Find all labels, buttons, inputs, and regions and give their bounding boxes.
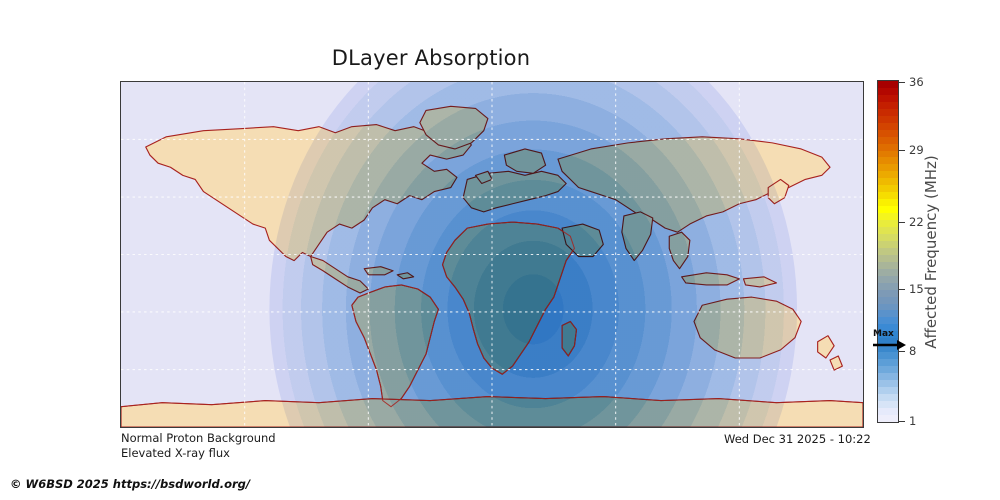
colorbar-band-29 bbox=[878, 283, 898, 290]
colorbar-band-31 bbox=[878, 297, 898, 304]
colorbar-band-33 bbox=[878, 310, 898, 317]
credit-line: © W6BSD 2025 https://bsdworld.org/ bbox=[10, 477, 250, 491]
colorbar-band-5 bbox=[878, 116, 898, 123]
colorbar-band-0 bbox=[878, 81, 898, 88]
colorbar-tick-mark-36 bbox=[899, 82, 905, 83]
colorbar-band-28 bbox=[878, 276, 898, 283]
colorbar-tick-mark-15 bbox=[899, 289, 905, 290]
colorbar-band-21 bbox=[878, 227, 898, 234]
colorbar-band-48 bbox=[878, 415, 898, 422]
colorbar-band-18 bbox=[878, 206, 898, 213]
status-note-proton: Normal Proton Background bbox=[121, 431, 276, 445]
max-marker-label: Max bbox=[873, 329, 894, 339]
colorbar bbox=[877, 80, 899, 423]
map-canvas[interactable] bbox=[120, 81, 864, 428]
colorbar-band-45 bbox=[878, 394, 898, 401]
colorbar-band-11 bbox=[878, 157, 898, 164]
colorbar-band-32 bbox=[878, 304, 898, 311]
colorbar-band-44 bbox=[878, 387, 898, 394]
world-map-svg bbox=[121, 82, 863, 427]
colorbar-tick-mark-1 bbox=[899, 421, 905, 422]
colorbar-band-40 bbox=[878, 359, 898, 366]
colorbar-band-30 bbox=[878, 290, 898, 297]
colorbar-band-1 bbox=[878, 88, 898, 95]
status-note-xray: Elevated X-ray flux bbox=[121, 446, 230, 460]
timestamp: Wed Dec 31 2025 - 10:22 bbox=[724, 432, 871, 446]
colorbar-band-14 bbox=[878, 178, 898, 185]
colorbar-band-24 bbox=[878, 248, 898, 255]
colorbar-band-6 bbox=[878, 123, 898, 130]
colorbar-band-42 bbox=[878, 373, 898, 380]
colorbar-band-4 bbox=[878, 109, 898, 116]
colorbar-band-46 bbox=[878, 401, 898, 408]
colorbar-band-34 bbox=[878, 317, 898, 324]
colorbar-band-16 bbox=[878, 192, 898, 199]
colorbar-band-20 bbox=[878, 220, 898, 227]
colorbar-band-27 bbox=[878, 269, 898, 276]
colorbar-band-26 bbox=[878, 262, 898, 269]
colorbar-axis-label: Affected Frequency (MHz) bbox=[916, 80, 946, 423]
colorbar-band-2 bbox=[878, 95, 898, 102]
colorbar-band-43 bbox=[878, 380, 898, 387]
colorbar-band-10 bbox=[878, 151, 898, 158]
colorbar-band-41 bbox=[878, 366, 898, 373]
colorbar-band-9 bbox=[878, 144, 898, 151]
colorbar-band-7 bbox=[878, 130, 898, 137]
page-title: DLayer Absorption bbox=[0, 46, 862, 70]
colorbar-band-12 bbox=[878, 164, 898, 171]
colorbar-band-22 bbox=[878, 234, 898, 241]
colorbar-band-47 bbox=[878, 408, 898, 415]
colorbar-band-25 bbox=[878, 255, 898, 262]
colorbar-axis-label-text: Affected Frequency (MHz) bbox=[922, 155, 940, 349]
colorbar-band-19 bbox=[878, 213, 898, 220]
colorbar-band-3 bbox=[878, 102, 898, 109]
max-marker: Max bbox=[872, 330, 906, 354]
colorbar-band-8 bbox=[878, 137, 898, 144]
colorbar-tick-mark-29 bbox=[899, 150, 905, 151]
colorbar-band-15 bbox=[878, 185, 898, 192]
colorbar-band-13 bbox=[878, 171, 898, 178]
colorbar-band-23 bbox=[878, 241, 898, 248]
colorbar-tick-mark-22 bbox=[899, 222, 905, 223]
colorbar-gradient bbox=[877, 80, 899, 423]
colorbar-band-17 bbox=[878, 199, 898, 206]
